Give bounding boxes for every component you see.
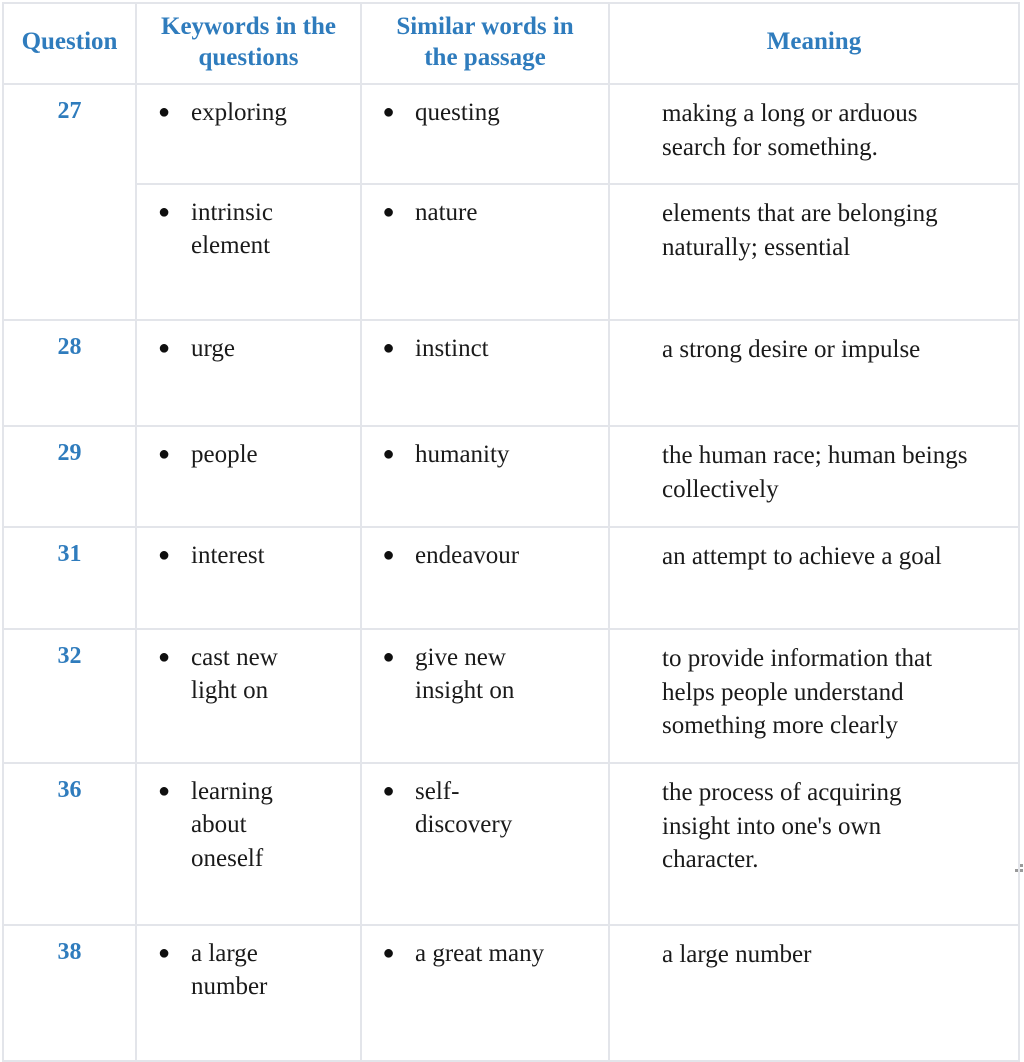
similar-word-cell: ● self- discovery	[361, 763, 609, 925]
header-row: Question Keywords in the questions Simil…	[3, 3, 1019, 84]
keyword-cell: ● exploring	[136, 84, 361, 184]
meaning-cell: a large number	[609, 925, 1019, 1061]
bullet-icon: ●	[137, 332, 191, 364]
table-body: 27 ● exploring ● questing making a long …	[3, 84, 1019, 1061]
meaning-cell: the process of acquiring insight into on…	[609, 763, 1019, 925]
bullet-item: ● a great many	[362, 937, 604, 970]
meaning-cell: a strong desire or impulse	[609, 320, 1019, 426]
similar-word-cell: ● give new insight on	[361, 629, 609, 763]
similar-word-cell: ● instinct	[361, 320, 609, 426]
bullet-icon: ●	[137, 438, 191, 470]
bullet-icon: ●	[137, 539, 191, 571]
similar-word-text: instinct	[415, 332, 604, 365]
table-row: ● intrinsic element ● nature elements th…	[3, 184, 1019, 320]
meaning-cell: the human race; human beings collectivel…	[609, 426, 1019, 527]
similar-word-text: endeavour	[415, 539, 604, 572]
bullet-icon: ●	[362, 438, 415, 470]
question-number-cell: 29	[3, 426, 136, 527]
bullet-item: ● people	[137, 438, 356, 471]
question-number-cell: 28	[3, 320, 136, 426]
keyword-text: urge	[191, 332, 356, 365]
question-number-cell: 32	[3, 629, 136, 763]
bullet-item: ● questing	[362, 96, 604, 129]
bullet-icon: ●	[137, 96, 191, 128]
bullet-item: ● give new insight on	[362, 641, 604, 708]
table-row: 32 ● cast new light on ● give new insigh…	[3, 629, 1019, 763]
similar-word-text: self- discovery	[415, 775, 604, 842]
column-header-similar-line2: the passage	[368, 43, 602, 74]
table-row: 38 ● a large number ● a great many a lar…	[3, 925, 1019, 1061]
keyword-cell: ● cast new light on	[136, 629, 361, 763]
similar-word-cell: ● a great many	[361, 925, 609, 1061]
similar-word-cell: ● endeavour	[361, 527, 609, 629]
keyword-text: exploring	[191, 96, 356, 129]
similar-word-text: give new insight on	[415, 641, 604, 708]
keyword-text: learning about oneself	[191, 775, 356, 875]
table-row: 27 ● exploring ● questing making a long …	[3, 84, 1019, 184]
bullet-icon: ●	[362, 775, 415, 807]
column-header-similar-line1: Similar words in	[368, 12, 602, 43]
bullet-icon: ●	[137, 937, 191, 969]
keyword-cell: ● people	[136, 426, 361, 527]
bullet-item: ● nature	[362, 196, 604, 229]
column-header-meaning: Meaning	[609, 3, 1019, 84]
keyword-cell: ● a large number	[136, 925, 361, 1061]
bullet-item: ● urge	[137, 332, 356, 365]
bullet-icon: ●	[137, 196, 191, 228]
keyword-cell: ● urge	[136, 320, 361, 426]
bullet-item: ● exploring	[137, 96, 356, 129]
column-header-similar-words: Similar words in the passage	[361, 3, 609, 84]
bullet-icon: ●	[362, 641, 415, 673]
table-row: 28 ● urge ● instinct a strong desire or …	[3, 320, 1019, 426]
bullet-item: ● interest	[137, 539, 356, 572]
similar-word-cell: ● humanity	[361, 426, 609, 527]
table-row: 31 ● interest ● endeavour an attempt to …	[3, 527, 1019, 629]
bullet-icon: ●	[362, 937, 415, 969]
similar-word-cell: ● questing	[361, 84, 609, 184]
question-number-cell: 27	[3, 84, 136, 320]
column-header-keywords-line1: Keywords in the	[143, 12, 354, 43]
keyword-text: intrinsic element	[191, 196, 356, 263]
table-header: Question Keywords in the questions Simil…	[3, 3, 1019, 84]
meaning-cell: making a long or arduous search for some…	[609, 84, 1019, 184]
keyword-text: interest	[191, 539, 356, 572]
similar-word-cell: ● nature	[361, 184, 609, 320]
bullet-item: ● instinct	[362, 332, 604, 365]
column-header-question: Question	[3, 3, 136, 84]
bullet-item: ● intrinsic element	[137, 196, 356, 263]
similar-word-text: humanity	[415, 438, 604, 471]
column-header-keywords: Keywords in the questions	[136, 3, 361, 84]
keyword-text: a large number	[191, 937, 356, 1004]
bullet-icon: ●	[137, 641, 191, 673]
bullet-icon: ●	[362, 96, 415, 128]
meaning-cell: to provide information that helps people…	[609, 629, 1019, 763]
bullet-item: ● humanity	[362, 438, 604, 471]
bullet-item: ● learning about oneself	[137, 775, 356, 875]
bullet-icon: ●	[362, 539, 415, 571]
bullet-icon: ●	[362, 196, 415, 228]
keyword-cell: ● interest	[136, 527, 361, 629]
similar-word-text: a great many	[415, 937, 604, 970]
meaning-cell: elements that are belonging naturally; e…	[609, 184, 1019, 320]
vocabulary-table: Question Keywords in the questions Simil…	[2, 2, 1020, 1062]
keyword-text: cast new light on	[191, 641, 356, 708]
bullet-item: ● a large number	[137, 937, 356, 1004]
question-number-cell: 38	[3, 925, 136, 1061]
similar-word-text: nature	[415, 196, 604, 229]
table-row: 36 ● learning about oneself ● self- disc…	[3, 763, 1019, 925]
similar-word-text: questing	[415, 96, 604, 129]
bullet-icon: ●	[137, 775, 191, 807]
bullet-item: ● endeavour	[362, 539, 604, 572]
bullet-item: ● cast new light on	[137, 641, 356, 708]
bullet-icon: ●	[362, 332, 415, 364]
question-number-cell: 36	[3, 763, 136, 925]
question-number-cell: 31	[3, 527, 136, 629]
keyword-text: people	[191, 438, 356, 471]
resize-handle-icon[interactable]	[1013, 862, 1023, 872]
meaning-cell: an attempt to achieve a goal	[609, 527, 1019, 629]
column-header-keywords-line2: questions	[143, 43, 354, 74]
bullet-item: ● self- discovery	[362, 775, 604, 842]
keyword-cell: ● learning about oneself	[136, 763, 361, 925]
table-row: 29 ● people ● humanity the human race; h…	[3, 426, 1019, 527]
keyword-cell: ● intrinsic element	[136, 184, 361, 320]
